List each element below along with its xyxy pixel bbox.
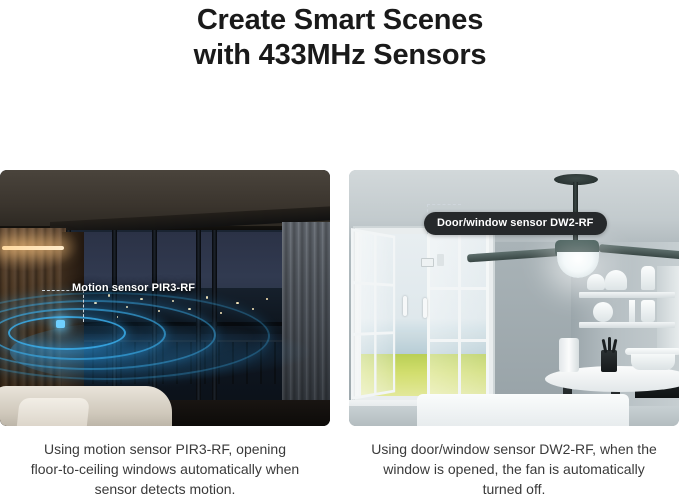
window-sash-left-open[interactable] xyxy=(351,228,395,400)
caption-line: window is opened, the fan is automatical… xyxy=(383,461,644,477)
captions-row: Using motion sensor PIR3-RF, opening flo… xyxy=(0,440,680,500)
door-window-sensor-label: Door/window sensor DW2-RF xyxy=(424,212,607,235)
page-title-line-2: with 433MHz Sensors xyxy=(0,38,680,73)
scene-cards-row: Motion sensor PIR3-RF xyxy=(0,170,680,426)
shelf-bowl xyxy=(605,270,627,290)
kitchen-island xyxy=(417,394,629,426)
callout-dashed-line xyxy=(83,290,84,322)
callout-dashed-line xyxy=(427,204,461,205)
led-glow xyxy=(0,228,80,272)
shelf-vase xyxy=(641,266,655,290)
shelf-plate xyxy=(593,302,613,322)
sofa-cushion xyxy=(16,398,90,426)
wall-shelf xyxy=(579,322,675,328)
door-window-sensor-caption: Using door/window sensor DW2-RF, when th… xyxy=(349,440,679,500)
caption-line: Using door/window sensor DW2-RF, when th… xyxy=(371,441,657,457)
sensor-wave-ring xyxy=(8,316,126,350)
motion-sensor-card[interactable]: Motion sensor PIR3-RF xyxy=(0,170,330,426)
page-title: Create Smart Scenes with 433MHz Sensors xyxy=(0,0,680,74)
promo-page: Create Smart Scenes with 433MHz Sensors xyxy=(0,0,680,501)
motion-sensor-device xyxy=(56,320,65,328)
caption-line: Using motion sensor PIR3-RF, opening xyxy=(44,441,286,457)
shelf-plate xyxy=(629,300,635,322)
shelf-bowl xyxy=(587,274,605,290)
wall-cabinet xyxy=(657,266,679,350)
caption-line: turned off. xyxy=(483,481,546,497)
door-window-sensor-card[interactable]: Door/window sensor DW2-RF xyxy=(349,170,679,426)
motion-sensor-label: Motion sensor PIR3-RF xyxy=(72,282,195,294)
stacked-bowls xyxy=(631,354,675,370)
led-cove-strip xyxy=(2,246,64,250)
shelf-jar xyxy=(641,300,655,322)
motion-sensor-caption: Using motion sensor PIR3-RF, opening flo… xyxy=(0,440,330,500)
caption-line: sensor detects motion. xyxy=(95,481,236,497)
curtain xyxy=(282,222,330,426)
wall-shelf xyxy=(579,292,675,298)
caption-line: floor-to-ceiling windows automatically w… xyxy=(31,461,299,477)
paper-towel-roll xyxy=(559,338,579,372)
window-mullion-grid xyxy=(354,231,393,396)
door-window-sensor-device xyxy=(421,258,434,267)
page-title-line-1: Create Smart Scenes xyxy=(197,4,483,36)
utensil-holder xyxy=(601,350,617,372)
door-window-sensor-magnet xyxy=(437,254,444,266)
